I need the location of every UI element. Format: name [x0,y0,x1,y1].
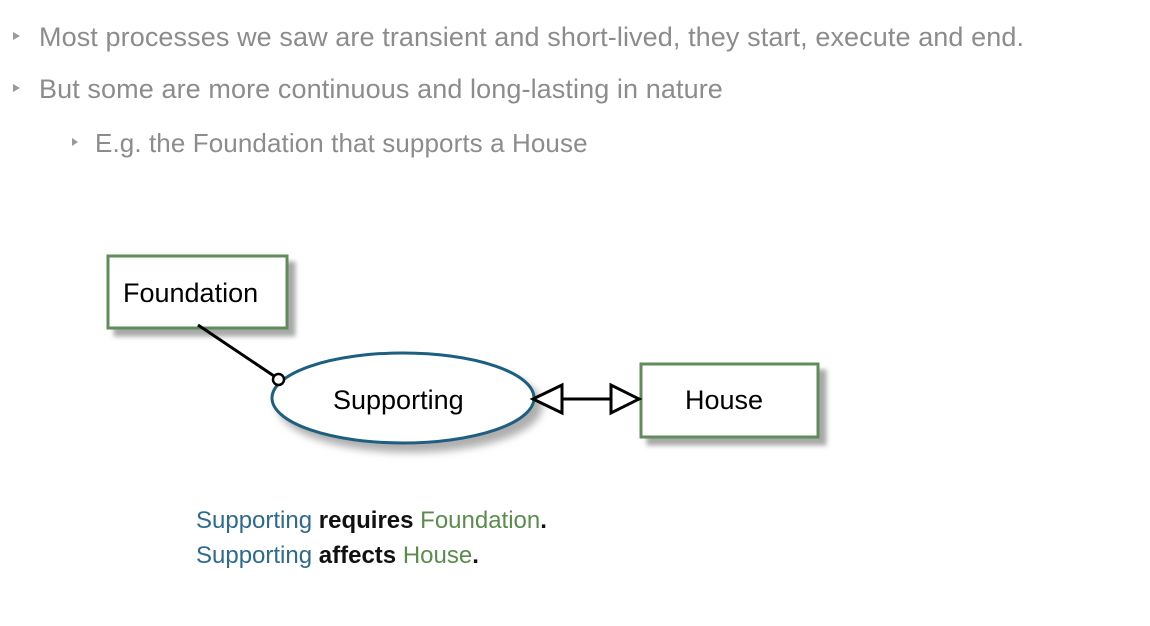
caption-1-verb: requires [319,507,414,534]
edge-foundation-supporting [198,325,284,385]
bullet-item-3: E.g. the Foundation that supports a Hous… [0,128,588,159]
diagram-caption: Supporting requires Foundation. Supporti… [196,503,547,573]
node-foundation [108,256,287,328]
edge-supporting-house [533,385,639,413]
open-circle-socket-icon [273,374,284,385]
caption-1-object: Foundation [420,507,540,534]
bullet-item-1: Most processes we saw are transient and … [0,22,1024,53]
hollow-arrowhead-left-icon [533,385,562,413]
caption-2-verb: affects [319,542,396,569]
node-supporting [272,353,534,443]
foundation-box-shape [108,256,287,328]
bullet-item-1-text: Most processes we saw are transient and … [39,22,1024,53]
hollow-arrowhead-right-icon [611,385,639,413]
node-foundation-label: Foundation [123,278,258,309]
node-house [641,364,818,437]
node-supporting-label: Supporting [333,385,464,416]
caption-line-1: Supporting requires Foundation. [196,503,547,538]
bullet-item-2-text: But some are more continuous and long-la… [39,74,723,105]
bullet-item-3-text: E.g. the Foundation that supports a Hous… [95,128,588,159]
caption-1-subject: Supporting [196,507,312,534]
supporting-ellipse-shape [272,353,534,443]
caption-line-2: Supporting affects House. [196,538,547,573]
caption-1-terminator: . [540,507,547,534]
bullet-item-2: But some are more continuous and long-la… [0,74,723,105]
triangle-right-bullet-icon [72,138,78,146]
caption-2-terminator: . [472,542,479,569]
triangle-right-bullet-icon [13,84,20,92]
caption-2-subject: Supporting [196,542,312,569]
caption-2-object: House [403,542,472,569]
foundation-supporting-line [198,325,274,376]
house-box-shape [641,364,818,437]
node-house-label: House [685,385,763,416]
triangle-right-bullet-icon [13,32,20,40]
